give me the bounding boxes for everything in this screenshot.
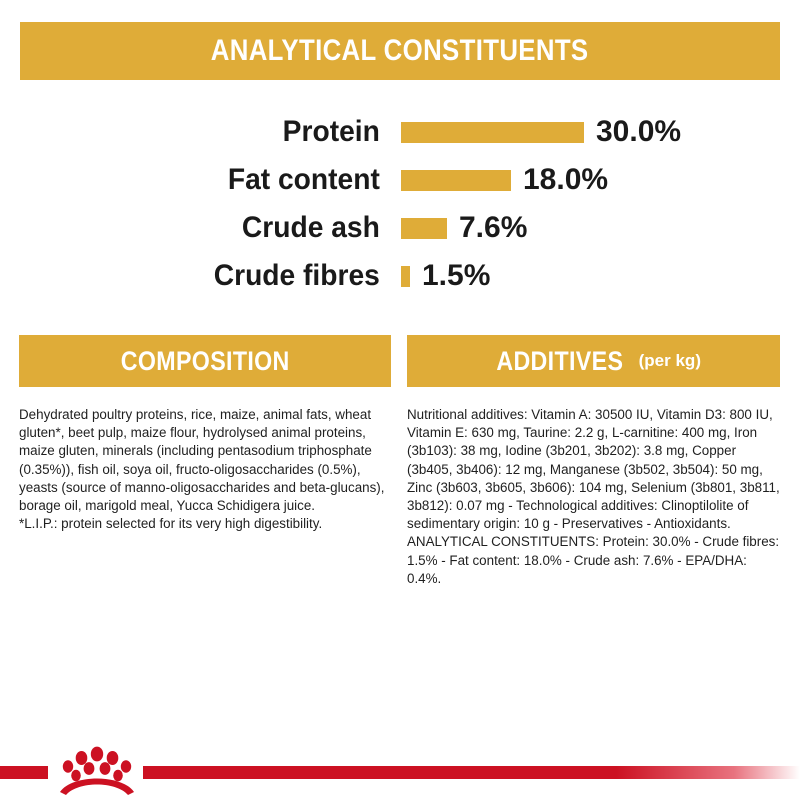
additives-title: ADDITIVES [496, 346, 623, 377]
chart-row-bar-wrap: 7.6% [401, 204, 527, 252]
composition-title: COMPOSITION [121, 346, 290, 377]
additives-subtitle: (per kg) [639, 351, 701, 371]
additives-text: Nutritional additives: Vitamin A: 30500 … [407, 406, 782, 588]
chart-row-label: Crude ash [24, 204, 393, 252]
chart-row: Fat content 18.0% [0, 156, 800, 204]
composition-text: Dehydrated poultry proteins, rice, maize… [19, 406, 391, 533]
chart-bar [401, 266, 410, 287]
analytical-constituents-title: ANALYTICAL CONSTITUENTS [211, 34, 589, 68]
additives-banner: ADDITIVES (per kg) [407, 335, 780, 387]
chart-bar [401, 218, 447, 239]
chart-row-label: Fat content [24, 156, 393, 204]
chart-row-bar-wrap: 18.0% [401, 156, 608, 204]
analytical-constituents-banner: ANALYTICAL CONSTITUENTS [20, 22, 780, 80]
chart-bar [401, 122, 584, 143]
chart-row-value: 30.0% [596, 117, 681, 147]
chart-row: Crude ash 7.6% [0, 204, 800, 252]
royal-canin-crown-icon [52, 742, 142, 798]
analytical-constituents-chart: Protein 30.0% Fat content 18.0% Crude as… [0, 108, 800, 303]
product-info-panel: ANALYTICAL CONSTITUENTS Protein 30.0% Fa… [0, 0, 800, 800]
chart-row: Protein 30.0% [0, 108, 800, 156]
chart-row-label: Protein [24, 108, 393, 156]
composition-banner: COMPOSITION [19, 335, 391, 387]
chart-row-label: Crude fibres [24, 252, 393, 300]
chart-row-value: 7.6% [459, 213, 527, 243]
footer-brand-bar [0, 740, 800, 800]
red-band-left [0, 766, 48, 779]
chart-bar [401, 170, 511, 191]
chart-row-bar-wrap: 1.5% [401, 252, 490, 300]
chart-row-value: 1.5% [422, 261, 490, 291]
chart-row: Crude fibres 1.5% [0, 252, 800, 300]
chart-row-value: 18.0% [523, 165, 608, 195]
red-band-right [143, 766, 800, 779]
chart-row-bar-wrap: 30.0% [401, 108, 681, 156]
